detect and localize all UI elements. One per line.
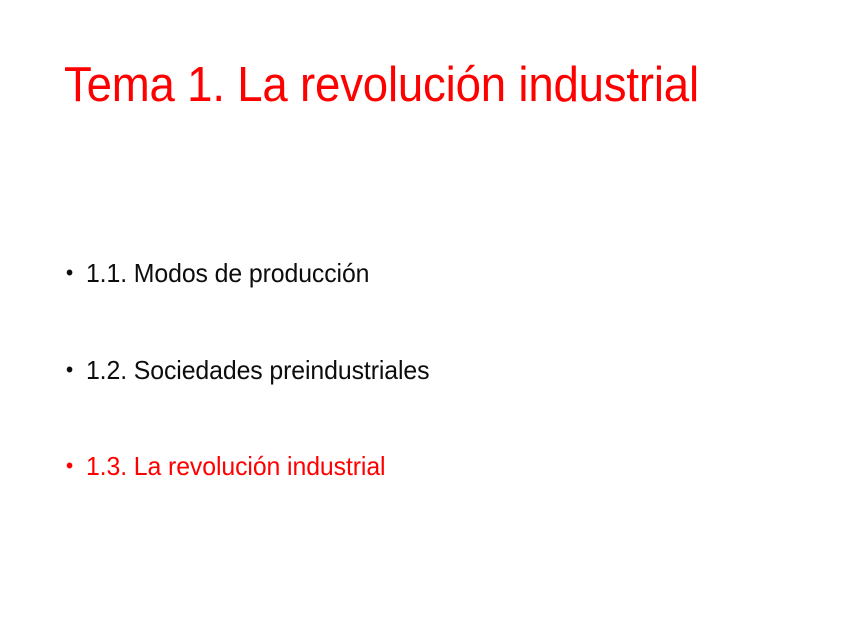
list-item-label: 1.1. Modos de producción [86, 258, 369, 289]
page-title: Tema 1. La revolución industrial [64, 58, 734, 113]
bullet-point-icon: • [66, 355, 81, 385]
list-item[interactable]: • 1.1. Modos de producción [64, 258, 771, 289]
list-item[interactable]: • 1.2. Sociedades preindustriales [64, 355, 771, 386]
bullet-point-icon: • [66, 258, 81, 288]
outline-bullet-list: • 1.1. Modos de producción • 1.2. Socied… [64, 258, 804, 482]
presentation-slide: Tema 1. La revolución industrial • 1.1. … [0, 0, 848, 636]
list-item-active[interactable]: • 1.3. La revolución industrial [64, 451, 771, 482]
bullet-point-icon: • [66, 451, 81, 481]
list-item-label: 1.3. La revolución industrial [86, 451, 386, 482]
list-item-label: 1.2. Sociedades preindustriales [86, 355, 430, 386]
